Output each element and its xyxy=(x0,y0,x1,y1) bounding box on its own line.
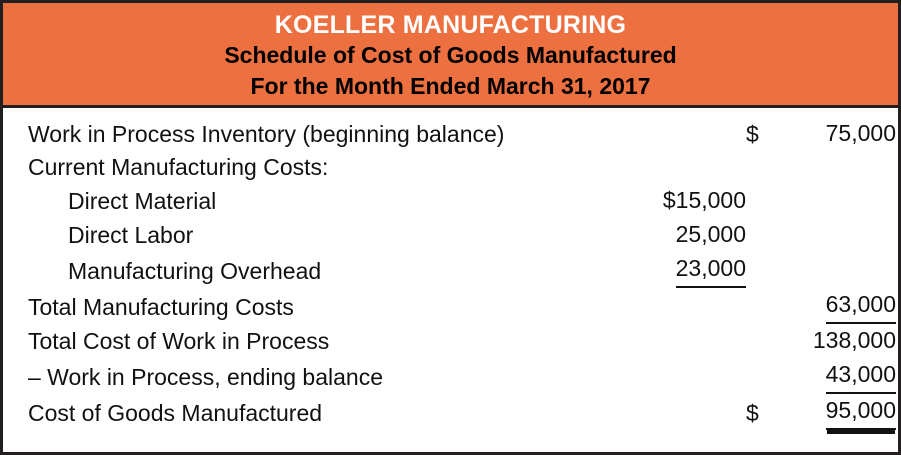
line-item-amount: 75,000 xyxy=(772,117,901,151)
amount-value: 75,000 xyxy=(826,117,896,151)
line-item-label: Work in Process Inventory (beginning bal… xyxy=(3,117,568,151)
statement-line-row: Work in Process Inventory (beginning bal… xyxy=(3,117,901,151)
line-item-subamount: 25,000 xyxy=(568,218,746,252)
currency-symbol: $ xyxy=(746,117,772,151)
subamount-value: $15,000 xyxy=(663,184,746,218)
line-item-amount xyxy=(772,218,901,252)
cost-of-goods-manufactured-statement: KOELLER MANUFACTURING Schedule of Cost o… xyxy=(0,0,901,455)
statement-line-row: Current Manufacturing Costs: xyxy=(3,151,901,184)
line-item-label: Manufacturing Overhead xyxy=(3,252,568,288)
statement-line-table: Work in Process Inventory (beginning bal… xyxy=(3,117,901,430)
subamount-value: 23,000 xyxy=(676,252,746,288)
line-item-amount: 95,000 xyxy=(772,394,901,430)
line-item-amount: 43,000 xyxy=(772,358,901,394)
company-name: KOELLER MANUFACTURING xyxy=(3,10,898,40)
statement-line-row: Cost of Goods Manufactured$95,000 xyxy=(3,394,901,430)
line-item-amount xyxy=(772,252,901,288)
statement-line-row: Direct Labor25,000 xyxy=(3,218,901,252)
statement-line-row: Total Cost of Work in Process138,000 xyxy=(3,324,901,358)
line-item-label: Cost of Goods Manufactured xyxy=(3,394,568,430)
line-item-label: Direct Material xyxy=(3,184,568,218)
line-item-subamount: $15,000 xyxy=(568,184,746,218)
amount-value: 43,000 xyxy=(826,358,896,394)
currency-symbol xyxy=(746,324,772,358)
line-item-label: Total Cost of Work in Process xyxy=(3,324,568,358)
currency-symbol xyxy=(746,288,772,324)
line-item-subamount xyxy=(568,151,746,184)
line-item-subamount: 23,000 xyxy=(568,252,746,288)
amount-value: 138,000 xyxy=(813,324,896,358)
line-item-label: Direct Labor xyxy=(3,218,568,252)
currency-symbol xyxy=(746,184,772,218)
line-item-subamount xyxy=(568,288,746,324)
currency-symbol xyxy=(746,252,772,288)
line-item-amount: 63,000 xyxy=(772,288,901,324)
currency-symbol xyxy=(746,151,772,184)
line-item-amount xyxy=(772,184,901,218)
line-item-label: Total Manufacturing Costs xyxy=(3,288,568,324)
line-item-subamount xyxy=(568,394,746,430)
line-item-amount: 138,000 xyxy=(772,324,901,358)
statement-title: Schedule of Cost of Goods Manufactured xyxy=(3,40,898,71)
statement-line-row: Direct Material$15,000 xyxy=(3,184,901,218)
statement-period: For the Month Ended March 31, 2017 xyxy=(3,71,898,102)
amount-value: 95,000 xyxy=(826,394,896,430)
statement-body: Work in Process Inventory (beginning bal… xyxy=(3,108,898,430)
subamount-value: 25,000 xyxy=(676,218,746,252)
line-item-subamount xyxy=(568,358,746,394)
statement-header: KOELLER MANUFACTURING Schedule of Cost o… xyxy=(3,3,898,108)
line-item-label: Current Manufacturing Costs: xyxy=(3,151,568,184)
line-item-label: – Work in Process, ending balance xyxy=(3,358,568,394)
currency-symbol xyxy=(746,358,772,394)
statement-line-row: Manufacturing Overhead23,000 xyxy=(3,252,901,288)
statement-line-row: – Work in Process, ending balance43,000 xyxy=(3,358,901,394)
line-item-amount xyxy=(772,151,901,184)
amount-value: 63,000 xyxy=(826,288,896,324)
currency-symbol: $ xyxy=(746,394,772,430)
currency-symbol xyxy=(746,218,772,252)
line-item-subamount xyxy=(568,117,746,151)
line-item-subamount xyxy=(568,324,746,358)
statement-line-row: Total Manufacturing Costs63,000 xyxy=(3,288,901,324)
